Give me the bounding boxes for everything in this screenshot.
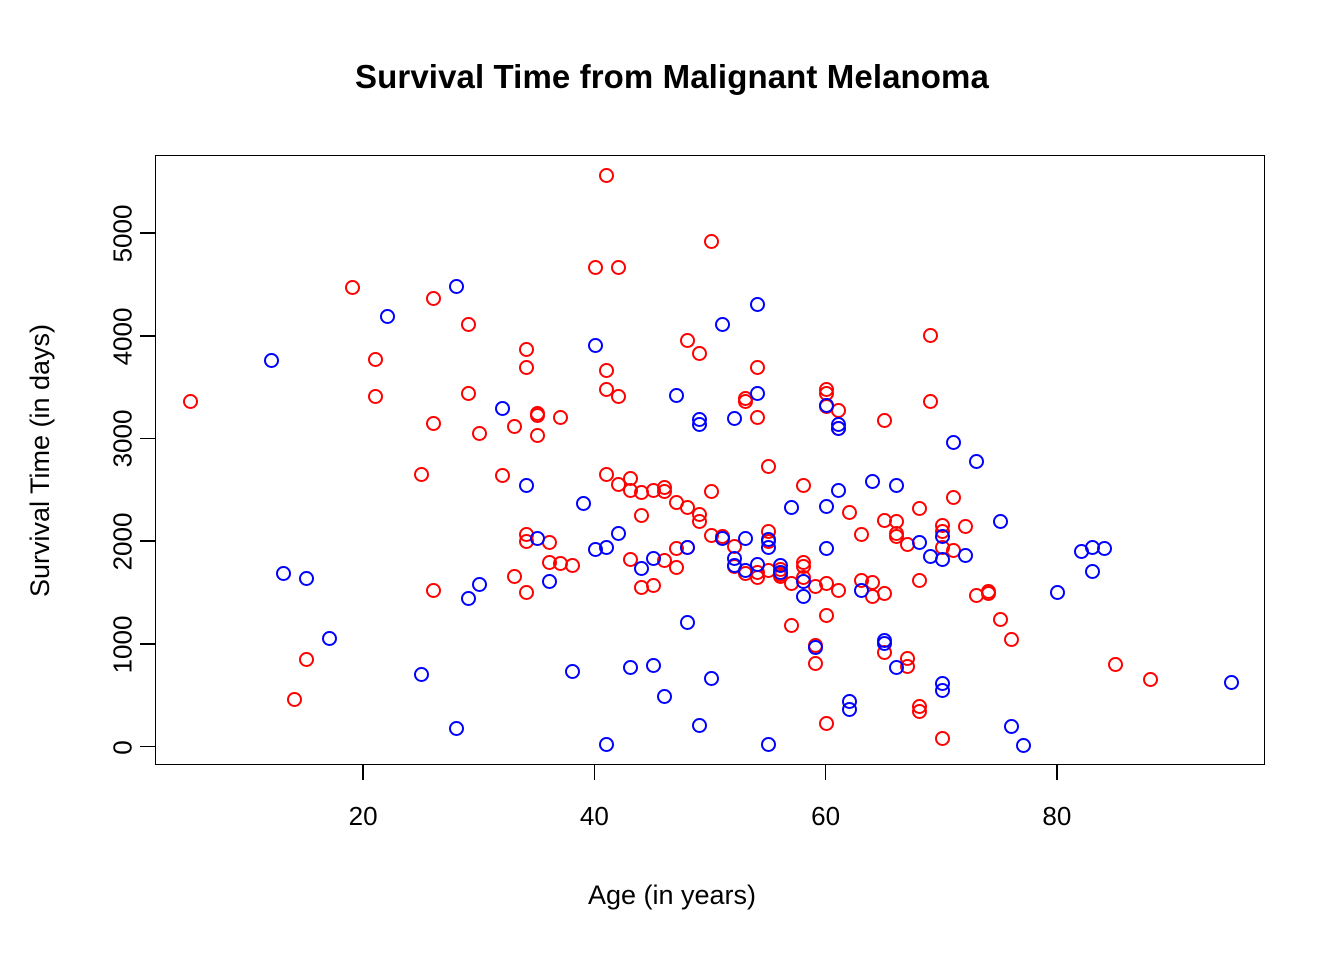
scatter-point [819, 499, 834, 514]
scatter-point [646, 658, 661, 673]
scatter-point [519, 478, 534, 493]
scatter-point [819, 541, 834, 556]
scatter-point [519, 342, 534, 357]
scatter-point [299, 571, 314, 586]
scatter-point [889, 478, 904, 493]
scatter-point [472, 426, 487, 441]
scatter-point [819, 716, 834, 731]
scatter-point [935, 731, 950, 746]
scatter-point [322, 631, 337, 646]
scatter-point [680, 615, 695, 630]
scatter-point [1004, 632, 1019, 647]
scatter-point [993, 612, 1008, 627]
scatter-point [1016, 738, 1031, 753]
scatter-point [842, 505, 857, 520]
scatter-point [599, 363, 614, 378]
scatter-point [611, 389, 626, 404]
scatter-point [796, 589, 811, 604]
scatter-point [345, 280, 360, 295]
scatter-point [819, 382, 834, 397]
scatter-point [519, 585, 534, 600]
x-axis-tick [594, 765, 596, 780]
scatter-point [831, 483, 846, 498]
scatter-point [634, 561, 649, 576]
chart-figure: Survival Time from Malignant Melanoma Su… [0, 0, 1344, 960]
scatter-point [599, 168, 614, 183]
scatter-point [854, 527, 869, 542]
scatter-point [611, 526, 626, 541]
scatter-point [877, 586, 892, 601]
scatter-point [368, 389, 383, 404]
x-axis-tick [1056, 765, 1058, 780]
scatter-point [935, 683, 950, 698]
scatter-point [576, 496, 591, 511]
scatter-point [831, 421, 846, 436]
scatter-point [842, 702, 857, 717]
plot-area [155, 155, 1265, 765]
y-axis-tick [140, 232, 155, 234]
scatter-point [912, 573, 927, 588]
scatter-point [796, 574, 811, 589]
scatter-point [704, 484, 719, 499]
scatter-point [877, 413, 892, 428]
x-axis-tick-label: 60 [776, 801, 876, 832]
scatter-point [588, 338, 603, 353]
scatter-point [750, 410, 765, 425]
x-axis-tick [825, 765, 827, 780]
scatter-point [912, 535, 927, 550]
scatter-point [507, 569, 522, 584]
scatter-point [553, 410, 568, 425]
scatter-point [264, 353, 279, 368]
scatter-point [958, 519, 973, 534]
scatter-point [472, 577, 487, 592]
scatter-point [692, 346, 707, 361]
scatter-point [738, 531, 753, 546]
y-axis-title: Survival Time (in days) [25, 323, 56, 596]
scatter-point [495, 401, 510, 416]
scatter-point [923, 394, 938, 409]
scatter-point [507, 419, 522, 434]
scatter-point [808, 656, 823, 671]
scatter-point [969, 454, 984, 469]
y-axis-tick [140, 438, 155, 440]
scatter-point [1004, 719, 1019, 734]
x-axis-tick-label: 80 [1007, 801, 1107, 832]
y-axis-tick [140, 540, 155, 542]
scatter-point [461, 317, 476, 332]
scatter-point [1224, 675, 1239, 690]
scatter-point [449, 721, 464, 736]
scatter-point [299, 652, 314, 667]
scatter-point [935, 552, 950, 567]
scatter-point [1050, 585, 1065, 600]
scatter-point [623, 660, 638, 675]
x-axis-tick-label: 20 [313, 801, 413, 832]
scatter-point [368, 352, 383, 367]
scatter-point [657, 689, 672, 704]
x-axis-tick [362, 765, 364, 780]
scatter-point [912, 501, 927, 516]
x-axis-title: Age (in years) [0, 880, 1344, 911]
scatter-point [530, 428, 545, 443]
scatter-point [784, 618, 799, 633]
scatter-point [981, 586, 996, 601]
y-axis-tick [140, 335, 155, 337]
scatter-point [692, 514, 707, 529]
scatter-point [680, 333, 695, 348]
scatter-point [495, 468, 510, 483]
scatter-point [704, 234, 719, 249]
scatter-point [646, 578, 661, 593]
scatter-point [565, 558, 580, 573]
scatter-point [634, 508, 649, 523]
scatter-point [727, 411, 742, 426]
scatter-point [449, 279, 464, 294]
scatter-point [993, 514, 1008, 529]
y-axis-tick-label: 0 [108, 702, 139, 792]
scatter-point [819, 608, 834, 623]
scatter-point [599, 540, 614, 555]
scatter-point [426, 583, 441, 598]
scatter-point [912, 704, 927, 719]
scatter-point [1108, 657, 1123, 672]
scatter-point [599, 737, 614, 752]
scatter-point [276, 566, 291, 581]
scatter-point [183, 394, 198, 409]
scatter-point [461, 591, 476, 606]
scatter-point [611, 260, 626, 275]
scatter-point [946, 490, 961, 505]
scatter-point [692, 718, 707, 733]
scatter-point [287, 692, 302, 707]
scatter-point [1143, 672, 1158, 687]
scatter-point [889, 660, 904, 675]
scatter-point [761, 459, 776, 474]
scatter-point [1097, 541, 1112, 556]
scatter-point [715, 531, 730, 546]
scatter-point [946, 435, 961, 450]
scatter-point [715, 317, 730, 332]
scatter-point [923, 328, 938, 343]
scatter-point [530, 531, 545, 546]
scatter-point [530, 408, 545, 423]
scatter-point [761, 532, 776, 547]
scatter-point [784, 500, 799, 515]
scatter-point [958, 548, 973, 563]
y-axis-tick-label: 4000 [108, 291, 139, 381]
x-axis-tick-label: 40 [544, 801, 644, 832]
scatter-point [414, 667, 429, 682]
scatter-point [865, 474, 880, 489]
scatter-point [461, 386, 476, 401]
scatter-point [565, 664, 580, 679]
scatter-point [669, 388, 684, 403]
scatter-point [808, 640, 823, 655]
scatter-point [750, 557, 765, 572]
scatter-point [750, 297, 765, 312]
scatter-point [761, 737, 776, 752]
scatter-point [854, 583, 869, 598]
scatter-point [380, 309, 395, 324]
scatter-point [750, 360, 765, 375]
y-axis-tick-label: 3000 [108, 394, 139, 484]
scatter-point [646, 551, 661, 566]
y-axis-tick-label: 2000 [108, 497, 139, 587]
y-axis-tick [140, 746, 155, 748]
scatter-point [680, 540, 695, 555]
scatter-point [704, 671, 719, 686]
scatter-point [588, 260, 603, 275]
scatter-point [831, 583, 846, 598]
scatter-point [414, 467, 429, 482]
scatter-point [669, 560, 684, 575]
y-axis-tick-label: 1000 [108, 599, 139, 689]
scatter-point [519, 360, 534, 375]
scatter-points-layer [156, 156, 1264, 764]
scatter-point [426, 291, 441, 306]
scatter-point [796, 478, 811, 493]
chart-title: Survival Time from Malignant Melanoma [0, 58, 1344, 96]
scatter-point [426, 416, 441, 431]
scatter-point [542, 574, 557, 589]
y-axis-tick [140, 643, 155, 645]
scatter-point [1085, 564, 1100, 579]
y-axis-tick-label: 5000 [108, 189, 139, 279]
scatter-point [750, 386, 765, 401]
